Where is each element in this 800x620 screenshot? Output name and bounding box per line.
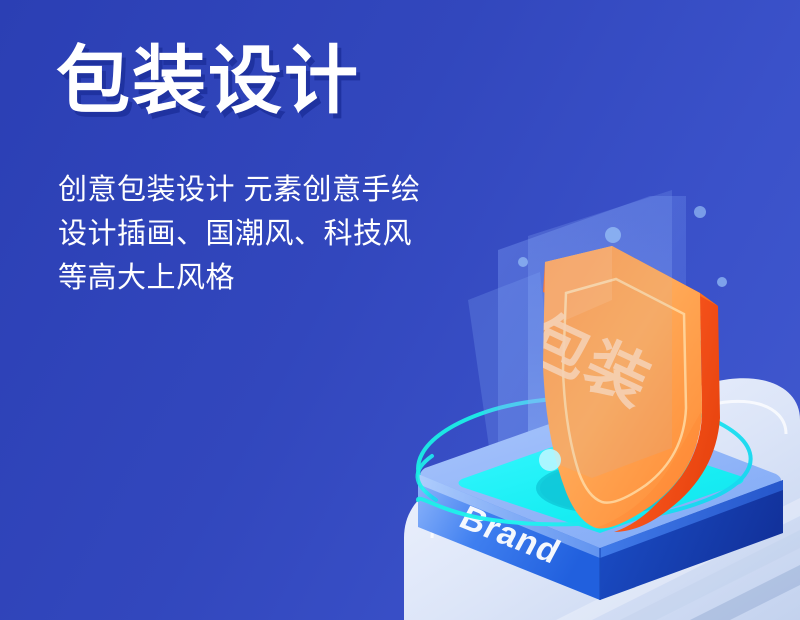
subtitle-line-2: 设计插画、国潮风、科技风 xyxy=(58,212,576,256)
glow-dot xyxy=(539,449,561,471)
page-title: 包装设计 xyxy=(56,42,576,120)
subtitle-block: 创意包装设计 元素创意手绘 设计插画、国潮风、科技风 等高大上风格 xyxy=(58,168,576,300)
subtitle-line-3: 等高大上风格 xyxy=(58,256,576,300)
subtitle-line-1: 创意包装设计 元素创意手绘 xyxy=(58,168,576,212)
headline-block: 包装设计 创意包装设计 元素创意手绘 设计插画、国潮风、科技风 等高大上风格 xyxy=(56,42,576,300)
promo-banner: Brand xyxy=(0,0,800,620)
